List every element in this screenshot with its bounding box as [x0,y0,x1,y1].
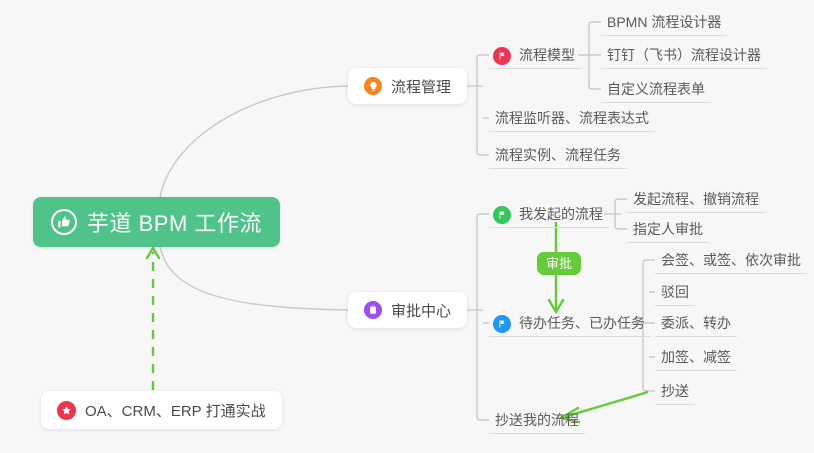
leaf-label: BPMN 流程设计器 [607,12,721,32]
node-label: 待办任务、已办任务 [519,313,645,333]
mindmap-canvas: 芋道 BPM 工作流 流程管理 流程模型 BPMN 流程设计器 钉钉（飞书）流程… [0,0,814,453]
leaf-cc-my-processes[interactable]: 抄送我的流程 [489,406,585,434]
flag-icon [493,47,511,65]
branch-process-management[interactable]: 流程管理 [348,68,467,104]
leaf-label: 加签、减签 [661,347,731,367]
leaf-label: 流程实例、流程任务 [495,145,621,165]
leaf-add-remove-sign[interactable]: 加签、减签 [655,343,737,371]
clipboard-icon [364,301,382,319]
flag-icon [493,315,511,333]
thumbs-up-icon [51,209,77,235]
approval-badge[interactable]: 审批 [537,252,581,275]
leaf-label: 发起流程、撤销流程 [633,189,759,209]
lightbulb-icon [364,77,382,95]
branch-approval-center[interactable]: 审批中心 [348,292,467,328]
leaf-bpmn-designer[interactable]: BPMN 流程设计器 [601,8,727,36]
leaf-cc[interactable]: 抄送 [655,377,695,405]
branch-label: 流程管理 [391,76,451,97]
leaf-delegate-transfer[interactable]: 委派、转办 [655,309,737,337]
leaf-countersign[interactable]: 会签、或签、依次审批 [655,246,807,274]
dashed-green-arrow [147,248,159,390]
node-label: 流程模型 [519,45,575,65]
leaf-label: 自定义流程表单 [607,79,705,99]
flag-icon [493,206,511,224]
leaf-process-listener[interactable]: 流程监听器、流程表达式 [489,104,655,132]
node-process-model[interactable]: 流程模型 [489,41,581,69]
leaf-process-instance[interactable]: 流程实例、流程任务 [489,141,627,169]
leaf-label: 会签、或签、依次审批 [661,250,801,270]
node-label: 我发起的流程 [519,204,603,224]
leaf-assigned-approval[interactable]: 指定人审批 [627,215,709,243]
node-todo-done-tasks[interactable]: 待办任务、已办任务 [489,309,651,337]
leaf-start-cancel-process[interactable]: 发起流程、撤销流程 [627,185,765,213]
node-my-started-processes[interactable]: 我发起的流程 [489,200,609,228]
root-node[interactable]: 芋道 BPM 工作流 [33,197,280,247]
leaf-label: 委派、转办 [661,313,731,333]
leaf-label: 流程监听器、流程表达式 [495,108,649,128]
leaf-dingtalk-designer[interactable]: 钉钉（飞书）流程设计器 [601,41,767,69]
star-icon [57,401,76,420]
leaf-label: 指定人审批 [633,219,703,239]
leaf-label: 驳回 [661,282,689,302]
branch-label: 审批中心 [391,300,451,321]
bottom-node-label: OA、CRM、ERP 打通实战 [85,400,266,421]
root-label: 芋道 BPM 工作流 [87,206,262,238]
leaf-custom-form[interactable]: 自定义流程表单 [601,75,711,103]
leaf-label: 抄送我的流程 [495,410,579,430]
leaf-reject[interactable]: 驳回 [655,278,695,306]
leaf-label: 抄送 [661,381,689,401]
bottom-node-integration[interactable]: OA、CRM、ERP 打通实战 [41,391,282,429]
leaf-label: 钉钉（飞书）流程设计器 [607,45,761,65]
